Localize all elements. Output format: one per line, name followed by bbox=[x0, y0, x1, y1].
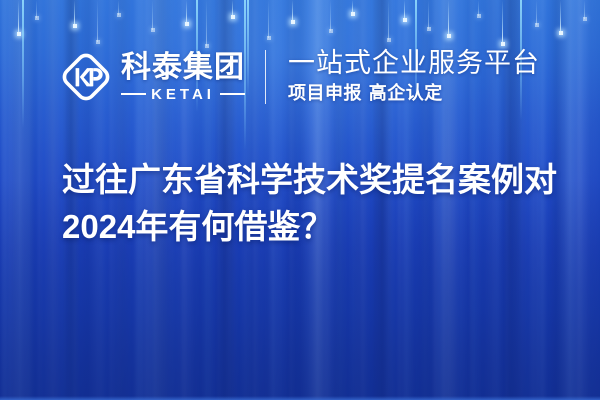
article-title: 过往广东省科学技术奖提名案例对 2024年有何借鉴？ bbox=[62, 156, 570, 250]
article-title-line-1: 过往广东省科学技术奖提名案例对 bbox=[62, 156, 570, 203]
meteor-streak bbox=[292, 0, 293, 22]
meteor-streak bbox=[404, 0, 405, 20]
bottom-edge-highlight bbox=[0, 396, 600, 400]
meteor-streak bbox=[502, 0, 503, 44]
brand-name-en-row: KETAI bbox=[121, 87, 245, 102]
tagline-block: 一站式企业服务平台 项目申报 高企认定 bbox=[288, 49, 540, 105]
kp-diamond-logo-icon bbox=[60, 51, 112, 103]
meteor-streak bbox=[36, 0, 37, 18]
meteor-streak bbox=[352, 0, 353, 14]
meteor-streak bbox=[206, 0, 207, 46]
meteor-streak bbox=[536, 0, 537, 25]
article-title-line-2: 2024年有何借鉴？ bbox=[62, 203, 570, 250]
meteor-streak bbox=[560, 0, 561, 33]
meteor-streak bbox=[186, 0, 187, 24]
brand-name-cn: 科泰集团 bbox=[121, 52, 245, 84]
meteor-streak bbox=[428, 0, 429, 29]
meteor-streak bbox=[18, 0, 19, 34]
meteor-streak bbox=[388, 0, 389, 40]
banner-image: 科泰集团 KETAI 一站式企业服务平台 项目申报 高企认定 过往广东省科学技术… bbox=[0, 0, 600, 400]
brand-dash-left bbox=[121, 93, 146, 95]
brand-lockup: 科泰集团 KETAI bbox=[60, 51, 245, 103]
brand-name-en: KETAI bbox=[151, 87, 215, 102]
meteor-streak bbox=[478, 0, 479, 16]
meteor-streak bbox=[74, 0, 75, 26]
meteor-streak bbox=[448, 0, 449, 36]
meteor-streak bbox=[330, 0, 331, 31]
meteor-streak bbox=[152, 0, 153, 30]
tagline-main: 一站式企业服务平台 bbox=[288, 49, 540, 79]
meteor-streak bbox=[97, 0, 98, 42]
brand-tagline-divider bbox=[265, 50, 266, 104]
meteor-streak bbox=[232, 0, 233, 17]
meteor-streak bbox=[268, 0, 269, 38]
tagline-sub: 项目申报 高企认定 bbox=[288, 83, 540, 105]
banner-header: 科泰集团 KETAI 一站式企业服务平台 项目申报 高企认定 bbox=[0, 42, 600, 112]
brand-text: 科泰集团 KETAI bbox=[121, 52, 245, 102]
brand-dash-right bbox=[220, 93, 245, 95]
meteor-streak bbox=[118, 0, 119, 15]
meteor-streak bbox=[584, 0, 585, 19]
